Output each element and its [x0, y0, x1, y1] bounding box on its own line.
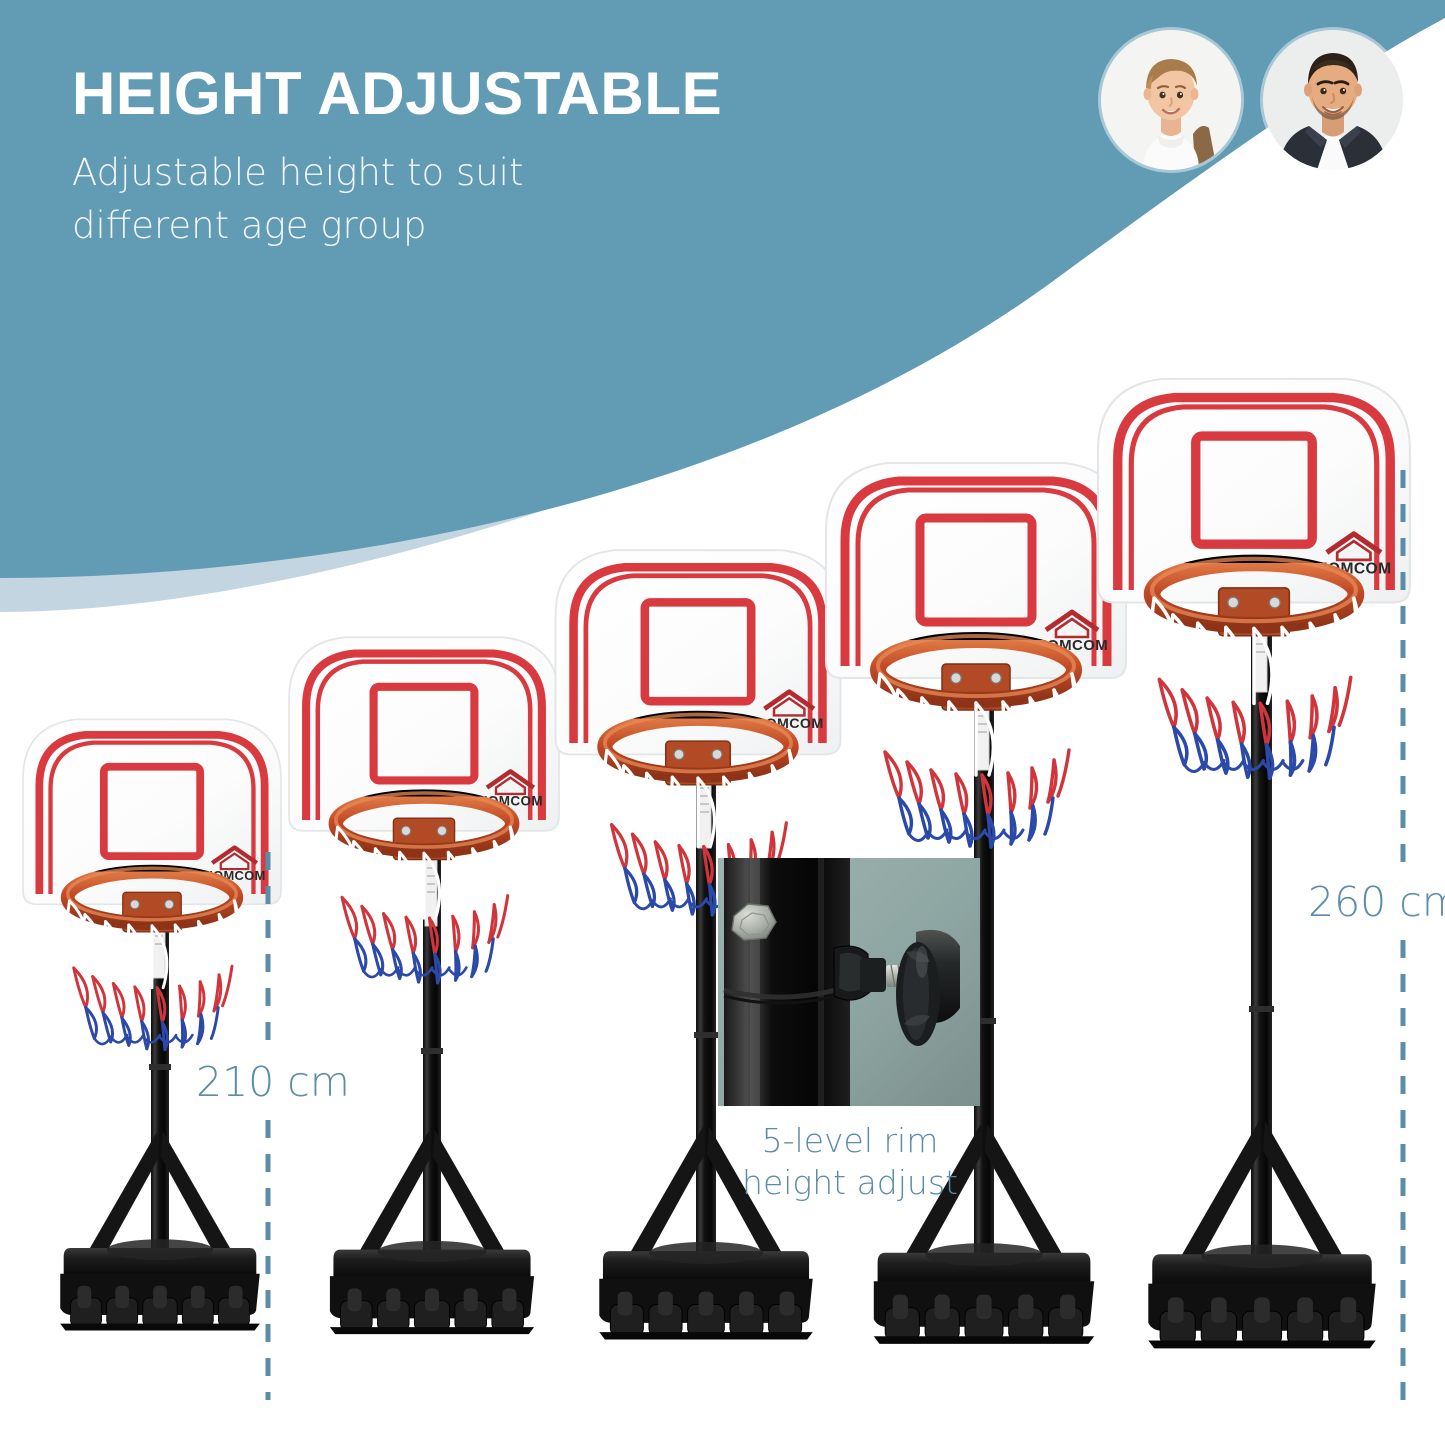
hoop-level-5	[1098, 379, 1410, 1348]
child-avatar	[1101, 30, 1241, 170]
avatar-group	[1101, 30, 1403, 170]
header-text-block: HEIGHT ADJUSTABLE Adjustable height to s…	[72, 62, 972, 252]
subtitle-line-2: different age group	[72, 204, 426, 247]
adult-avatar	[1263, 30, 1403, 170]
page-subtitle: Adjustable height to suit different age …	[72, 147, 632, 252]
caption-line-2: height adjust	[700, 1162, 1000, 1204]
rim-adjust-detail-photo	[718, 858, 980, 1106]
dimension-label-max: 260 cm	[1308, 878, 1445, 926]
dimension-label-min: 210 cm	[196, 1058, 350, 1106]
caption-line-1: 5-level rim	[700, 1120, 1000, 1162]
subtitle-line-1: Adjustable height to suit	[72, 151, 523, 194]
rim-adjust-caption: 5-level rim height adjust	[700, 1120, 1000, 1204]
infographic-canvas: HEIGHT ADJUSTABLE Adjustable height to s…	[0, 0, 1445, 1445]
hoop-level-2	[289, 637, 559, 1334]
hoop-level-1	[23, 719, 281, 1330]
page-title: HEIGHT ADJUSTABLE	[72, 62, 972, 125]
